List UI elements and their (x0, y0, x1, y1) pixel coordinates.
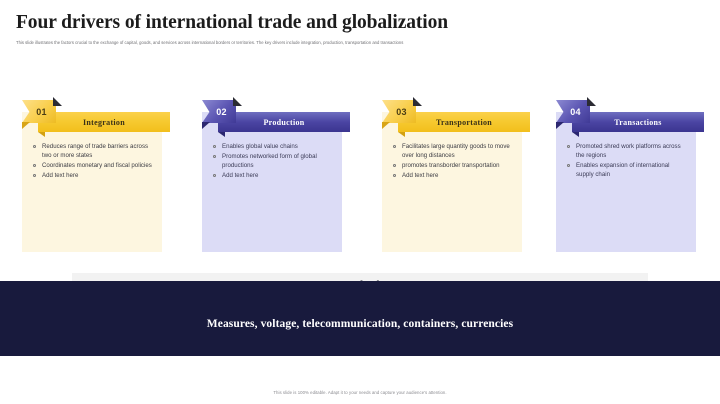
driver-ribbon: Integration01 (38, 112, 170, 132)
driver-card: Production02Enables global value chainsP… (202, 112, 342, 252)
ribbon-tail-icon (556, 122, 564, 129)
drivers-card-row: Integration01Reduces range of trade barr… (0, 96, 720, 256)
driver-number: 02 (211, 107, 226, 117)
driver-title: Production (263, 118, 304, 127)
driver-number-tab: 04 (556, 100, 590, 126)
driver-ribbon: Transactions04 (572, 112, 704, 132)
driver-bullet-item: Reduces range of trade barriers across t… (32, 142, 154, 160)
driver-card: Transactions04Promoted shred work platfo… (556, 112, 696, 252)
corner-fold-icon (413, 97, 422, 106)
driver-bullet-text: Coordinates monetary and fiscal policies (42, 162, 152, 169)
driver-number-tab: 01 (22, 100, 56, 126)
driver-ribbon: Production02 (218, 112, 350, 132)
driver-bullet-item: promotes transborder transportation (392, 161, 514, 170)
driver-bullet-list: Facilitates large quantity goods to move… (392, 142, 514, 180)
corner-fold-icon (233, 97, 242, 106)
driver-bullet-text: Add text here (42, 172, 78, 179)
driver-title: Integration (83, 118, 125, 127)
driver-ribbon: Transportation03 (398, 112, 530, 132)
ribbon-fold-shadow (38, 132, 45, 137)
driver-number: 04 (565, 107, 580, 117)
driver-bullet-list: Promoted shred work platforms across the… (566, 142, 688, 179)
driver-bullet-item: Promotes networked form of global produc… (212, 152, 334, 170)
driver-ribbon-bar: Integration (38, 112, 170, 132)
driver-bullet-text: Add text here (402, 172, 438, 179)
driver-bullet-text: Promotes networked form of global produc… (222, 153, 317, 169)
ribbon-tail-icon (22, 122, 30, 129)
number-tab-face: 04 (556, 100, 590, 123)
corner-fold-icon (587, 97, 596, 106)
driver-bullet-text: Add text here (222, 172, 258, 179)
driver-bullet-item: Facilitates large quantity goods to move… (392, 142, 514, 160)
ribbon-fold-shadow (218, 132, 225, 137)
driver-ribbon-bar: Production (218, 112, 350, 132)
ribbon-tail-icon (382, 122, 390, 129)
driver-card-body: Integration01Reduces range of trade barr… (22, 112, 162, 252)
number-tab-face: 03 (382, 100, 416, 123)
ribbon-fold-shadow (572, 132, 579, 137)
driver-card-body: Transportation03Facilitates large quanti… (382, 112, 522, 252)
footer-note: This slide is 100% editable. Adapt it to… (0, 390, 720, 395)
bullet-dot-icon (33, 145, 36, 148)
driver-bullet-text: Enables expansion of international suppl… (576, 162, 670, 178)
driver-bullet-list: Reduces range of trade barriers across t… (32, 142, 154, 180)
driver-card-body: Transactions04Promoted shred work platfo… (556, 112, 696, 252)
ribbon-fold-shadow (398, 132, 405, 137)
number-tab-face: 01 (22, 100, 56, 123)
driver-bullet-item: Promoted shred work platforms across the… (566, 142, 688, 160)
page-subtitle: This slide illustrates the factors cruci… (16, 40, 696, 46)
driver-title: Transactions (614, 118, 661, 127)
driver-bullet-text: Promoted shred work platforms across the… (576, 143, 681, 159)
driver-number-tab: 02 (202, 100, 236, 126)
driver-number: 01 (31, 107, 46, 117)
driver-title: Transportation (436, 118, 492, 127)
bullet-dot-icon (213, 174, 216, 177)
driver-bullet-text: promotes transborder transportation (402, 162, 500, 169)
driver-bullet-item: Add text here (212, 171, 334, 180)
driver-card-body: Production02Enables global value chainsP… (202, 112, 342, 252)
driver-bullet-text: Reduces range of trade barriers across t… (42, 143, 148, 159)
bullet-dot-icon (213, 155, 216, 158)
driver-bullet-item: Add text here (32, 171, 154, 180)
driver-ribbon-bar: Transactions (572, 112, 704, 132)
bullet-dot-icon (393, 174, 396, 177)
driver-bullet-item: Add text here (392, 171, 514, 180)
bullet-dot-icon (33, 164, 36, 167)
page-title: Four drivers of international trade and … (16, 12, 676, 34)
bullet-dot-icon (567, 145, 570, 148)
number-tab-face: 02 (202, 100, 236, 123)
ribbon-tail-icon (202, 122, 210, 129)
bullet-dot-icon (33, 174, 36, 177)
driver-bullet-text: Enables global value chains (222, 143, 298, 150)
driver-bullet-text: Facilitates large quantity goods to move… (402, 143, 510, 159)
driver-bullet-item: Coordinates monetary and fiscal policies (32, 161, 154, 170)
corner-fold-icon (53, 97, 62, 106)
driver-bullet-item: Enables global value chains (212, 142, 334, 151)
driver-card: Integration01Reduces range of trade barr… (22, 112, 162, 252)
bullet-dot-icon (213, 145, 216, 148)
driver-ribbon-bar: Transportation (398, 112, 530, 132)
bullet-dot-icon (393, 145, 396, 148)
driver-bullet-list: Enables global value chainsPromotes netw… (212, 142, 334, 180)
bullet-dot-icon (567, 164, 570, 167)
standards-detail-text: Measures, voltage, telecommunication, co… (0, 318, 720, 330)
driver-bullet-item: Enables expansion of international suppl… (566, 161, 688, 179)
driver-number: 03 (391, 107, 406, 117)
driver-number-tab: 03 (382, 100, 416, 126)
driver-card: Transportation03Facilitates large quanti… (382, 112, 522, 252)
bullet-dot-icon (393, 164, 396, 167)
